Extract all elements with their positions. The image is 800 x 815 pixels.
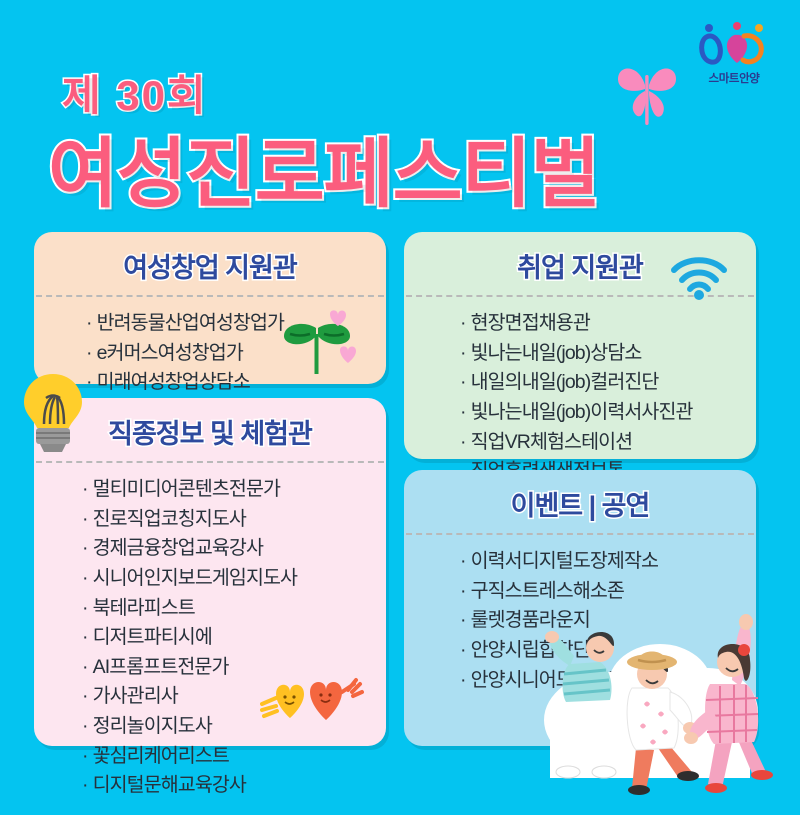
bullet-icon: · <box>82 656 88 678</box>
list-item: ·현장면접채용관 <box>460 309 756 339</box>
bullet-icon: · <box>82 626 88 648</box>
bullet-icon: · <box>460 431 466 453</box>
brand-name-label: 스마트안양 <box>686 70 782 86</box>
list-item: ·멀티미디어콘텐츠전문가 <box>82 475 386 505</box>
bullet-icon: · <box>82 597 88 619</box>
list-item: ·디저트파티시에 <box>82 623 386 653</box>
bullet-icon: · <box>86 312 92 334</box>
list-item: ·디지털문해교육강사 <box>82 771 386 801</box>
card-startup-title: 여성창업 지원관 <box>34 232 386 295</box>
bullet-icon: · <box>460 371 466 393</box>
lightbulb-icon <box>18 370 88 454</box>
bullet-icon: · <box>82 537 88 559</box>
card-experience-items: ·멀티미디어콘텐츠전문가 ·진로직업코칭지도사 ·경제금융창업교육강사 ·시니어… <box>34 463 386 815</box>
brand-logo: 스마트안양 <box>686 22 782 86</box>
list-item: ·빛나는내일(job)상담소 <box>460 339 756 369</box>
list-item: ·꽃심리케어리스트 <box>82 742 386 772</box>
smart-anyang-logo-icon <box>697 22 771 68</box>
bullet-icon: · <box>460 401 466 423</box>
bullet-icon: · <box>86 342 92 364</box>
bullet-icon: · <box>82 715 88 737</box>
bullet-icon: · <box>82 478 88 500</box>
bullet-icon: · <box>82 745 88 767</box>
butterfly-icon <box>612 55 682 130</box>
list-item: ·진로직업코칭지도사 <box>82 505 386 535</box>
bullet-icon: · <box>460 609 466 631</box>
bullet-icon: · <box>460 669 466 691</box>
bullet-icon: · <box>460 580 466 602</box>
bullet-icon: · <box>460 342 466 364</box>
people-illustration <box>540 600 800 800</box>
poster-header: 제 30회 여성진로페스티벌 스마트안양 <box>0 0 800 228</box>
poster-canvas: 제 30회 여성진로페스티벌 스마트안양 여성창업 지 <box>0 0 800 800</box>
list-item: ·직업VR체험스테이션 <box>460 428 756 458</box>
bullet-icon: · <box>460 312 466 334</box>
bullet-icon: · <box>82 567 88 589</box>
list-item: ·경제금융창업교육강사 <box>82 534 386 564</box>
page-title: 여성진로페스티벌 <box>48 112 599 222</box>
card-startup[interactable]: 여성창업 지원관 ·반려동물산업여성창업가 ·e커머스여성창업가 ·미래여성창업… <box>34 232 386 384</box>
list-item: ·내일의내일(job)컬러진단 <box>460 368 756 398</box>
bullet-icon: · <box>460 639 466 661</box>
list-item: ·시니어인지보드게임지도사 <box>82 564 386 594</box>
card-experience[interactable]: 직종정보 및 체험관 ·멀티미디어콘텐츠전문가 ·진로직업코칭지도사 ·경제금융… <box>34 398 386 746</box>
bullet-icon: · <box>460 550 466 572</box>
bullet-icon: · <box>82 508 88 530</box>
card-jobs[interactable]: 취업 지원관 ·현장면접채용관 ·빛나는내일(job)상담소 ·내일의내일(jo… <box>404 232 756 459</box>
list-item: ·이력서디지털도장제작소 <box>460 547 756 577</box>
list-item: ·북테라피스트 <box>82 594 386 624</box>
bullet-icon: · <box>82 685 88 707</box>
bullet-icon: · <box>82 774 88 796</box>
sprout-icon <box>268 306 360 376</box>
wifi-icon <box>668 254 730 300</box>
hearts-icon <box>260 676 364 732</box>
list-item: ·빛나는내일(job)이력서사진관 <box>460 398 756 428</box>
card-event-title: 이벤트 | 공연 <box>404 470 756 533</box>
